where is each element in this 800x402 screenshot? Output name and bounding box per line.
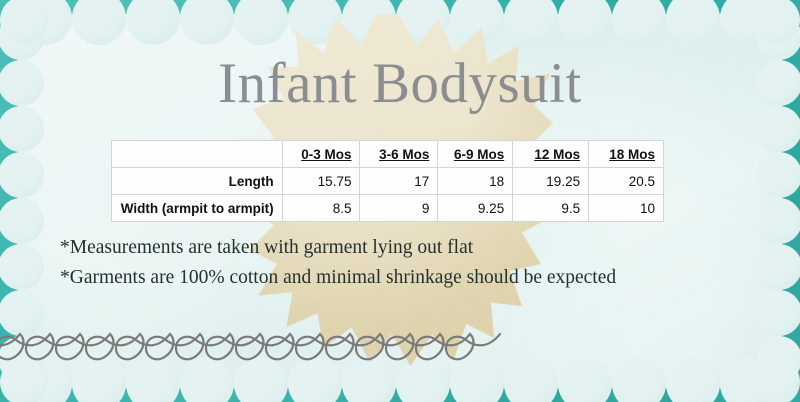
cell-r1-c4: 19.25 — [513, 168, 589, 195]
cell-r1-c1: 15.75 — [282, 168, 360, 195]
column-header-4: 12 Mos — [513, 141, 589, 168]
footnote-cotton: *Garments are 100% cotton and minimal sh… — [60, 263, 750, 293]
table-header-row: 0-3 Mos3-6 Mos6-9 Mos12 Mos18 Mos — [112, 141, 664, 168]
column-header-5: 18 Mos — [589, 141, 664, 168]
column-header-3: 6-9 Mos — [438, 141, 513, 168]
cell-r2-c2: 9 — [360, 195, 438, 222]
loop-path — [0, 334, 500, 359]
cell-r2-c3: 9.25 — [438, 195, 513, 222]
cell-r2-c4: 9.5 — [513, 195, 589, 222]
row-label: Width (armpit to armpit) — [112, 195, 283, 222]
cell-r2-c1: 8.5 — [282, 195, 360, 222]
size-chart: 0-3 Mos3-6 Mos6-9 Mos12 Mos18 MosLength1… — [111, 140, 664, 222]
footnote-measurements: *Measurements are taken with garment lyi… — [60, 233, 750, 263]
table-row: Length15.75171819.2520.5 — [112, 168, 664, 195]
cell-r1-c3: 18 — [438, 168, 513, 195]
size-chart-table: 0-3 Mos3-6 Mos6-9 Mos12 Mos18 MosLength1… — [111, 140, 664, 222]
page-title: Infant Bodysuit — [0, 52, 800, 116]
curlicue-loop-divider — [0, 312, 800, 372]
row-label: Length — [112, 168, 283, 195]
table-corner-cell — [112, 141, 283, 168]
table-row: Width (armpit to armpit)8.599.259.510 — [112, 195, 664, 222]
cell-r1-c5: 20.5 — [589, 168, 664, 195]
column-header-1: 0-3 Mos — [282, 141, 360, 168]
footnotes: *Measurements are taken with garment lyi… — [60, 233, 750, 293]
poster-canvas: Infant Bodysuit 0-3 Mos3-6 Mos6-9 Mos12 … — [0, 0, 800, 402]
cell-r1-c2: 17 — [360, 168, 438, 195]
column-header-2: 3-6 Mos — [360, 141, 438, 168]
cell-r2-c5: 10 — [589, 195, 664, 222]
